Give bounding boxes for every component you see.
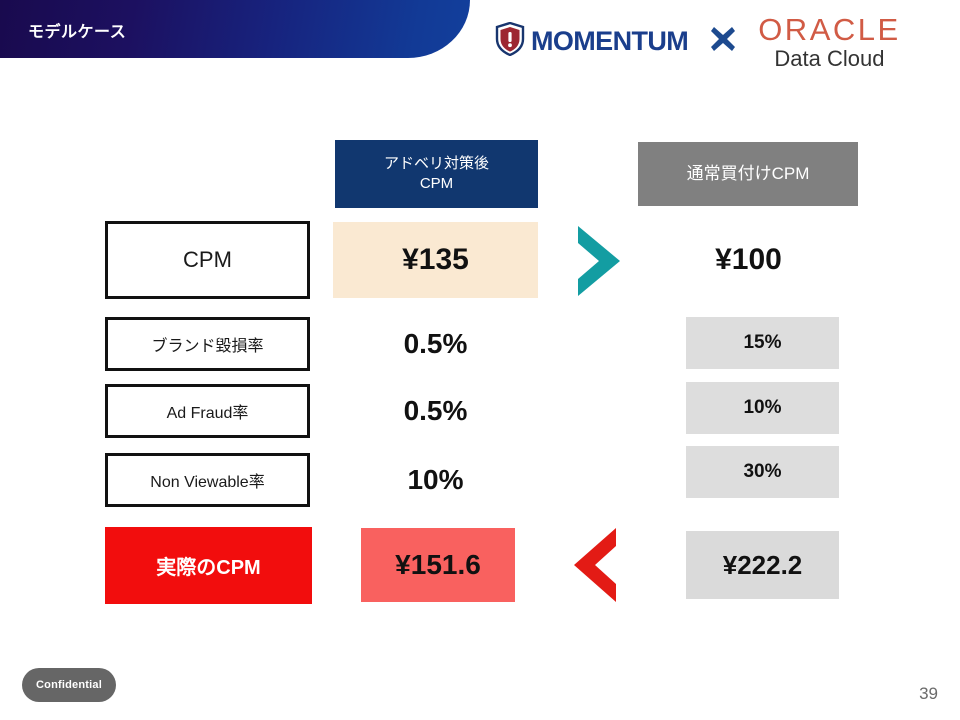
shield-icon: [495, 22, 525, 61]
treated-value-brand-risk: 0.5%: [333, 317, 538, 371]
row-label-ad-fraud: Ad Fraud率: [105, 384, 310, 438]
row-label-brand-risk: ブランド毀損率: [105, 317, 310, 371]
page-number: 39: [919, 684, 938, 704]
normal-value-brand-risk: 15%: [686, 317, 839, 369]
normal-value-non-viewable: 30%: [686, 446, 839, 498]
oracle-logo: ORACLE Data Cloud: [758, 14, 900, 70]
oracle-wordmark: ORACLE: [758, 14, 900, 46]
treated-value-cpm: ¥135: [333, 222, 538, 298]
normal-value-actual-cpm: ¥222.2: [686, 531, 839, 599]
column-header-treated-line1: アドベリ対策後: [384, 155, 489, 172]
column-header-treated-line2: CPM: [420, 175, 453, 192]
normal-value-cpm: ¥100: [646, 222, 851, 298]
chevron-right-icon: [572, 222, 628, 305]
row-label-cpm: CPM: [105, 221, 310, 299]
header-band: モデルケース: [0, 0, 470, 58]
comparison-matrix: アドベリ対策後 CPM 通常買付けCPM CPM ブランド毀損率 Ad Frau…: [0, 0, 960, 720]
row-label-actual-cpm: 実際のCPM: [105, 527, 312, 604]
oracle-subtitle: Data Cloud: [774, 48, 884, 70]
column-header-normal: 通常買付けCPM: [638, 142, 858, 206]
confidential-badge: Confidential: [22, 668, 116, 702]
logo-lockup: MOMENTUM ORACLE Data Cloud: [495, 14, 901, 70]
cross-icon: [708, 24, 738, 59]
chevron-left-icon: [566, 524, 622, 611]
treated-value-non-viewable: 10%: [333, 453, 538, 507]
treated-value-ad-fraud: 0.5%: [333, 384, 538, 438]
row-label-non-viewable: Non Viewable率: [105, 453, 310, 507]
momentum-wordmark: MOMENTUM: [531, 28, 688, 55]
momentum-logo: MOMENTUM: [495, 22, 688, 61]
column-header-treated: アドベリ対策後 CPM: [335, 140, 538, 208]
page-title: モデルケース: [28, 18, 126, 42]
normal-value-ad-fraud: 10%: [686, 382, 839, 434]
treated-value-actual-cpm: ¥151.6: [361, 528, 515, 602]
